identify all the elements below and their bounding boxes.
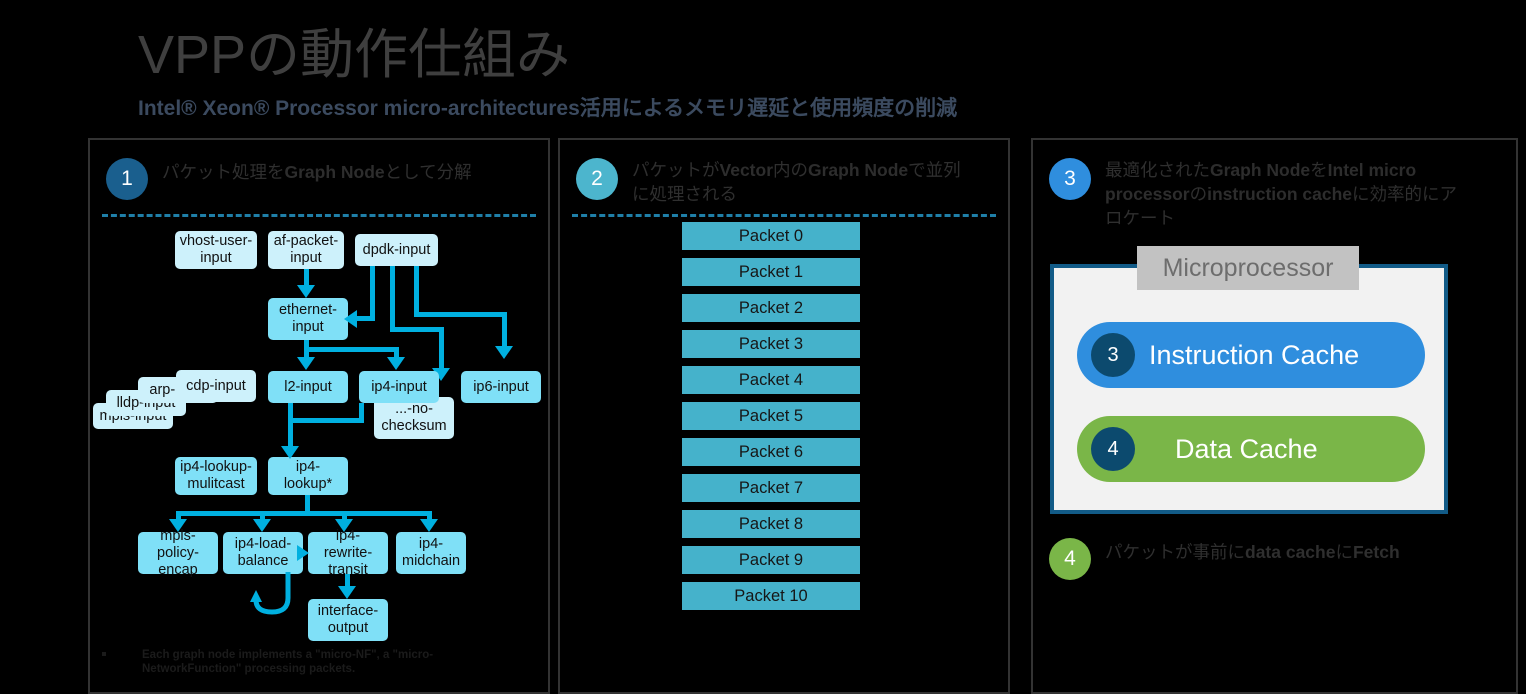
data-cache-label: Data Cache	[1175, 434, 1318, 465]
connector-dpdk-to-ip4-v2	[439, 327, 444, 370]
packet-list: Packet 0 Packet 1 Packet 2 Packet 3 Pack…	[682, 222, 860, 618]
arrowhead-rewrite-to-interface	[338, 586, 356, 599]
step-badge-4: 4	[1049, 538, 1091, 580]
arrowhead-lookup-to-lb	[253, 519, 271, 532]
step-badge-1: 1	[106, 158, 148, 200]
panel3-heading-part1: 最適化された	[1105, 160, 1210, 180]
node-dpdk-input[interactable]: dpdk-input	[355, 234, 438, 266]
connector-dpdk-to-ip4-h	[390, 327, 444, 332]
panel1-heading: パケット処理をGraph Nodeとして分解	[162, 160, 492, 184]
connector-dpdk-to-ip6-h	[414, 312, 507, 317]
arrowhead-lookup-to-mpls	[169, 519, 187, 532]
panel3-heading: 最適化されたGraph NodeをIntel micro processorのi…	[1105, 158, 1465, 230]
step-badge-2: 2	[576, 158, 618, 200]
arrowhead-ip4-to-lookup	[281, 446, 299, 459]
panel3-step4-bold2: Fetch	[1353, 542, 1400, 562]
connector-ethernet-h	[304, 347, 399, 352]
arrowhead-dpdk-to-ethernet	[344, 310, 357, 328]
packet-item[interactable]: Packet 1	[682, 258, 860, 286]
panel3-step4-bold1: data cache	[1245, 542, 1335, 562]
panel2-heading-bold1: Vector	[720, 160, 774, 180]
panel-microprocessor: 3 最適化されたGraph NodeをIntel micro processor…	[1031, 138, 1518, 694]
instruction-cache-label: Instruction Cache	[1149, 340, 1359, 371]
node-ip4-input[interactable]: ip4-input	[359, 371, 439, 403]
node-ethernet-input[interactable]: ethernet-input	[268, 298, 348, 340]
page-subtitle: Intel® Xeon® Processor micro-architectur…	[138, 96, 957, 122]
panel3-heading-part3: の	[1190, 184, 1208, 204]
panel3-heading-bold3: instruction cache	[1207, 184, 1352, 204]
panel2-heading-bold2: Graph Node	[808, 160, 908, 180]
panel3-step4-part1: パケットが事前に	[1105, 542, 1245, 562]
page-title: VPPの動作仕組み	[138, 24, 570, 86]
panel3-heading-bold1: Graph Node	[1210, 160, 1310, 180]
node-ip4-midchain[interactable]: ip4-midchain	[396, 532, 466, 574]
connector-lb-selfloop	[230, 572, 300, 616]
connector-lookup-bus	[176, 511, 432, 516]
node-ip6-input[interactable]: ip6-input	[461, 371, 541, 403]
node-af-packet-input[interactable]: af-packet-input	[268, 231, 344, 269]
connector-afpacket-to-ethernet	[304, 269, 309, 285]
packet-item[interactable]: Packet 5	[682, 402, 860, 430]
panel2-heading-part2: 内の	[773, 160, 808, 180]
connector-dpdk-to-ethernet-h	[356, 316, 375, 321]
arrowhead-dpdk-to-ip6	[495, 346, 513, 359]
node-ip4-rewrite-transit[interactable]: ip4-rewrite-transit	[308, 532, 388, 574]
connector-ip4-to-lookup-h	[288, 418, 363, 423]
node-interface-output[interactable]: interface-output	[308, 599, 388, 641]
panel2-dashed-separator	[572, 214, 996, 217]
connector-dpdk-to-ip4-v1	[390, 266, 395, 327]
packet-item[interactable]: Packet 9	[682, 546, 860, 574]
panel2-heading-part1: パケットが	[632, 160, 720, 180]
arrowhead-ethernet-to-l2	[297, 357, 315, 370]
connector-ip4-to-lookup-v2	[359, 403, 364, 423]
packet-item[interactable]: Packet 4	[682, 366, 860, 394]
packet-item[interactable]: Packet 3	[682, 330, 860, 358]
instruction-cache-number: 3	[1091, 333, 1135, 377]
packet-item[interactable]: Packet 0	[682, 222, 860, 250]
node-ip4-input-no-checksum[interactable]: ...-no-checksum	[374, 397, 454, 439]
arrowhead-lookup-to-midchain	[420, 519, 438, 532]
connector-dpdk-to-ip6-v2	[502, 312, 507, 348]
node-ip4-lookup-mulitcast[interactable]: ip4-lookup-mulitcast	[175, 457, 257, 495]
connector-dpdk-to-ethernet-v	[370, 266, 375, 316]
node-ip4-lookup[interactable]: ip4-lookup*	[268, 457, 348, 495]
panel1-heading-part1: パケット処理を	[162, 162, 285, 182]
packet-item[interactable]: Packet 8	[682, 510, 860, 538]
arrowhead-lb-to-rewrite	[297, 545, 309, 561]
panel2-heading: パケットがVector内のGraph Nodeで並列に処理される	[632, 158, 962, 206]
arrowhead-ethernet-to-ip4	[387, 357, 405, 370]
panel-graph-nodes: 1 パケット処理をGraph Nodeとして分解 vhost-user-inpu…	[88, 138, 550, 694]
panel1-heading-bold: Graph Node	[285, 162, 385, 182]
panel3-step4-text: パケットが事前にdata cacheにFetch	[1105, 540, 1465, 564]
instruction-cache-pill[interactable]: 3 Instruction Cache	[1077, 322, 1425, 388]
panel1-heading-part2: として分解	[385, 162, 472, 182]
arrowhead-afpacket-to-ethernet	[297, 285, 315, 298]
connector-ip4-to-lookup-v1	[288, 403, 293, 449]
node-l2-input[interactable]: l2-input	[268, 371, 348, 403]
data-cache-pill[interactable]: 4 Data Cache	[1077, 416, 1425, 482]
arrowhead-lookup-to-rewrite	[335, 519, 353, 532]
packet-item[interactable]: Packet 7	[682, 474, 860, 502]
panel1-note: Each graph node implements a "micro-NF",…	[102, 648, 532, 676]
panel3-heading-part2: を	[1310, 160, 1328, 180]
packet-item[interactable]: Packet 6	[682, 438, 860, 466]
step-badge-3: 3	[1049, 158, 1091, 200]
node-mpls-policy-encap[interactable]: mpls-policy-encap	[138, 532, 218, 574]
node-vhost-user-input[interactable]: vhost-user-input	[175, 231, 257, 269]
data-cache-number: 4	[1091, 427, 1135, 471]
connector-dpdk-to-ip6-v1	[414, 266, 419, 312]
panel1-dashed-separator	[102, 214, 536, 217]
packet-item[interactable]: Packet 2	[682, 294, 860, 322]
packet-item[interactable]: Packet 10	[682, 582, 860, 610]
node-ip4-load-balance[interactable]: ip4-load-balance	[223, 532, 303, 574]
panel1-note-text: Each graph node implements a "micro-NF",…	[142, 648, 532, 676]
panel3-step4-part2: に	[1335, 542, 1353, 562]
panel-vector-packets: 2 パケットがVector内のGraph Nodeで並列に処理される Packe…	[558, 138, 1010, 694]
node-cdp-input[interactable]: cdp-input	[176, 370, 256, 402]
bullet-dot-icon	[102, 652, 106, 656]
microprocessor-label: Microprocessor	[1137, 246, 1359, 290]
